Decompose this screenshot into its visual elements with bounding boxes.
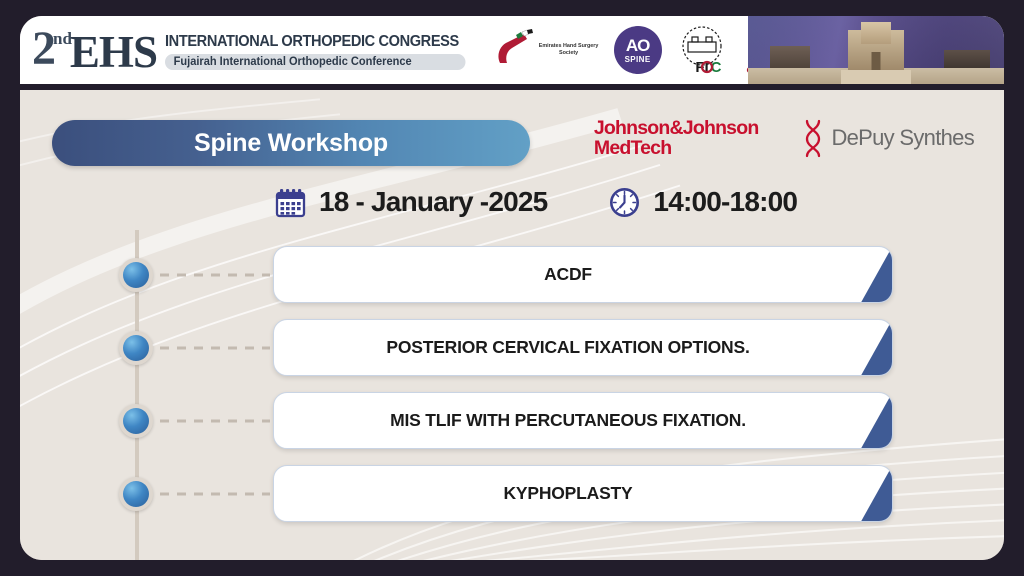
fort-doorway xyxy=(872,52,881,70)
fioc-emblem-icon: FI C xyxy=(676,25,728,75)
johnson-and-johnson-medtech-logo: Johnson&Johnson MedTech xyxy=(594,118,759,159)
congress-title-sub: Fujairah International Orthopedic Confer… xyxy=(165,54,465,70)
timeline-bullet-icon xyxy=(119,477,153,511)
jnj-line1: Johnson&Johnson xyxy=(594,118,759,138)
card-corner-accent xyxy=(828,393,892,448)
workshop-title: Spine Workshop xyxy=(194,129,388,158)
fort-path xyxy=(841,70,911,84)
timeline-connector xyxy=(160,419,270,422)
timeline-connector xyxy=(160,492,270,495)
session-title: ACDF xyxy=(504,264,662,285)
fort-tower xyxy=(861,22,891,44)
list-item[interactable]: KYPHOPLASTY xyxy=(20,457,1004,530)
congress-title-main: INTERNATIONAL ORTHOPEDIC CONGRESS xyxy=(165,33,459,51)
fort-right-ruin xyxy=(944,50,990,70)
timeline-connector xyxy=(160,273,270,276)
fort-left-ruin xyxy=(770,46,810,70)
workshop-title-pill: Spine Workshop xyxy=(52,120,530,166)
timeline-connector xyxy=(160,346,270,349)
depuy-synthes-text: DePuy Synthes xyxy=(831,125,974,151)
schedule-row: 18 - January -2025 xyxy=(275,186,797,218)
session-title: MIS TLIF WITH PERCUTANEOUS FIXATION. xyxy=(350,410,816,431)
session-card[interactable]: POSTERIOR CERVICAL FIXATION OPTIONS. xyxy=(273,319,893,376)
jnj-line2: MedTech xyxy=(594,138,759,158)
depuy-synthes-logo: DePuy Synthes xyxy=(802,118,974,158)
date-group: 18 - January -2025 xyxy=(275,186,547,218)
list-item[interactable]: MIS TLIF WITH PERCUTANEOUS FIXATION. xyxy=(20,384,1004,457)
session-card[interactable]: ACDF xyxy=(273,246,893,303)
timeline-bullet-icon xyxy=(119,331,153,365)
session-list: ACDF POSTERIOR CERVICAL FIXATION OPTIONS… xyxy=(20,238,1004,530)
emirates-hand-surgery-society-logo: Emirates Hand Surgery Society xyxy=(494,29,600,71)
emirates-hand-surgery-society-label: Emirates Hand Surgery Society xyxy=(538,43,600,58)
fioc-logo: FI C xyxy=(676,25,728,75)
congress-title-block: INTERNATIONAL ORTHOPEDIC CONGRESS Fujair… xyxy=(165,33,478,70)
time-group: 14:00-18:00 xyxy=(609,186,797,218)
fujairah-fort-photo xyxy=(748,16,1004,84)
timeline-bullet-icon xyxy=(119,258,153,292)
calendar-icon xyxy=(275,187,306,218)
slide-header: 2 nd EHS INTERNATIONAL ORTHOPEDIC CONGRE… xyxy=(20,16,1004,84)
card-corner-accent xyxy=(828,466,892,521)
ao-spine-line1: AO xyxy=(626,37,650,54)
session-card[interactable]: MIS TLIF WITH PERCUTANEOUS FIXATION. xyxy=(273,392,893,449)
session-card[interactable]: KYPHOPLASTY xyxy=(273,465,893,522)
hand-surgery-emblem-icon xyxy=(494,29,534,71)
header-divider xyxy=(20,84,1004,90)
depuy-helix-icon xyxy=(802,118,824,158)
session-title: KYPHOPLASTY xyxy=(463,483,702,504)
workshop-date: 18 - January -2025 xyxy=(319,186,547,218)
list-item[interactable]: POSTERIOR CERVICAL FIXATION OPTIONS. xyxy=(20,311,1004,384)
session-title: POSTERIOR CERVICAL FIXATION OPTIONS. xyxy=(346,337,819,358)
workshop-time: 14:00-18:00 xyxy=(653,186,797,218)
slide-inner-frame: 2 nd EHS INTERNATIONAL ORTHOPEDIC CONGRE… xyxy=(20,16,1004,560)
timeline-bullet-icon xyxy=(119,404,153,438)
card-corner-accent xyxy=(828,247,892,302)
partner-logos: Emirates Hand Surgery Society AO SPINE F… xyxy=(494,24,782,76)
congress-acronym: EHS xyxy=(70,31,157,74)
congress-ordinal-number: 2 xyxy=(32,27,54,71)
card-corner-accent xyxy=(828,320,892,375)
slide-body: Spine Workshop Johnson&Johnson MedTech D… xyxy=(20,90,1004,560)
ao-spine-line2: SPINE xyxy=(625,55,651,64)
clock-icon xyxy=(609,187,640,218)
presentation-slide: 2 nd EHS INTERNATIONAL ORTHOPEDIC CONGRE… xyxy=(0,0,1024,576)
sponsor-logos: Johnson&Johnson MedTech DePuy Synthes xyxy=(594,118,974,159)
ao-spine-logo: AO SPINE xyxy=(614,26,662,74)
congress-wordmark: 2 nd EHS INTERNATIONAL ORTHOPEDIC CONGRE… xyxy=(20,27,478,74)
list-item[interactable]: ACDF xyxy=(20,238,1004,311)
